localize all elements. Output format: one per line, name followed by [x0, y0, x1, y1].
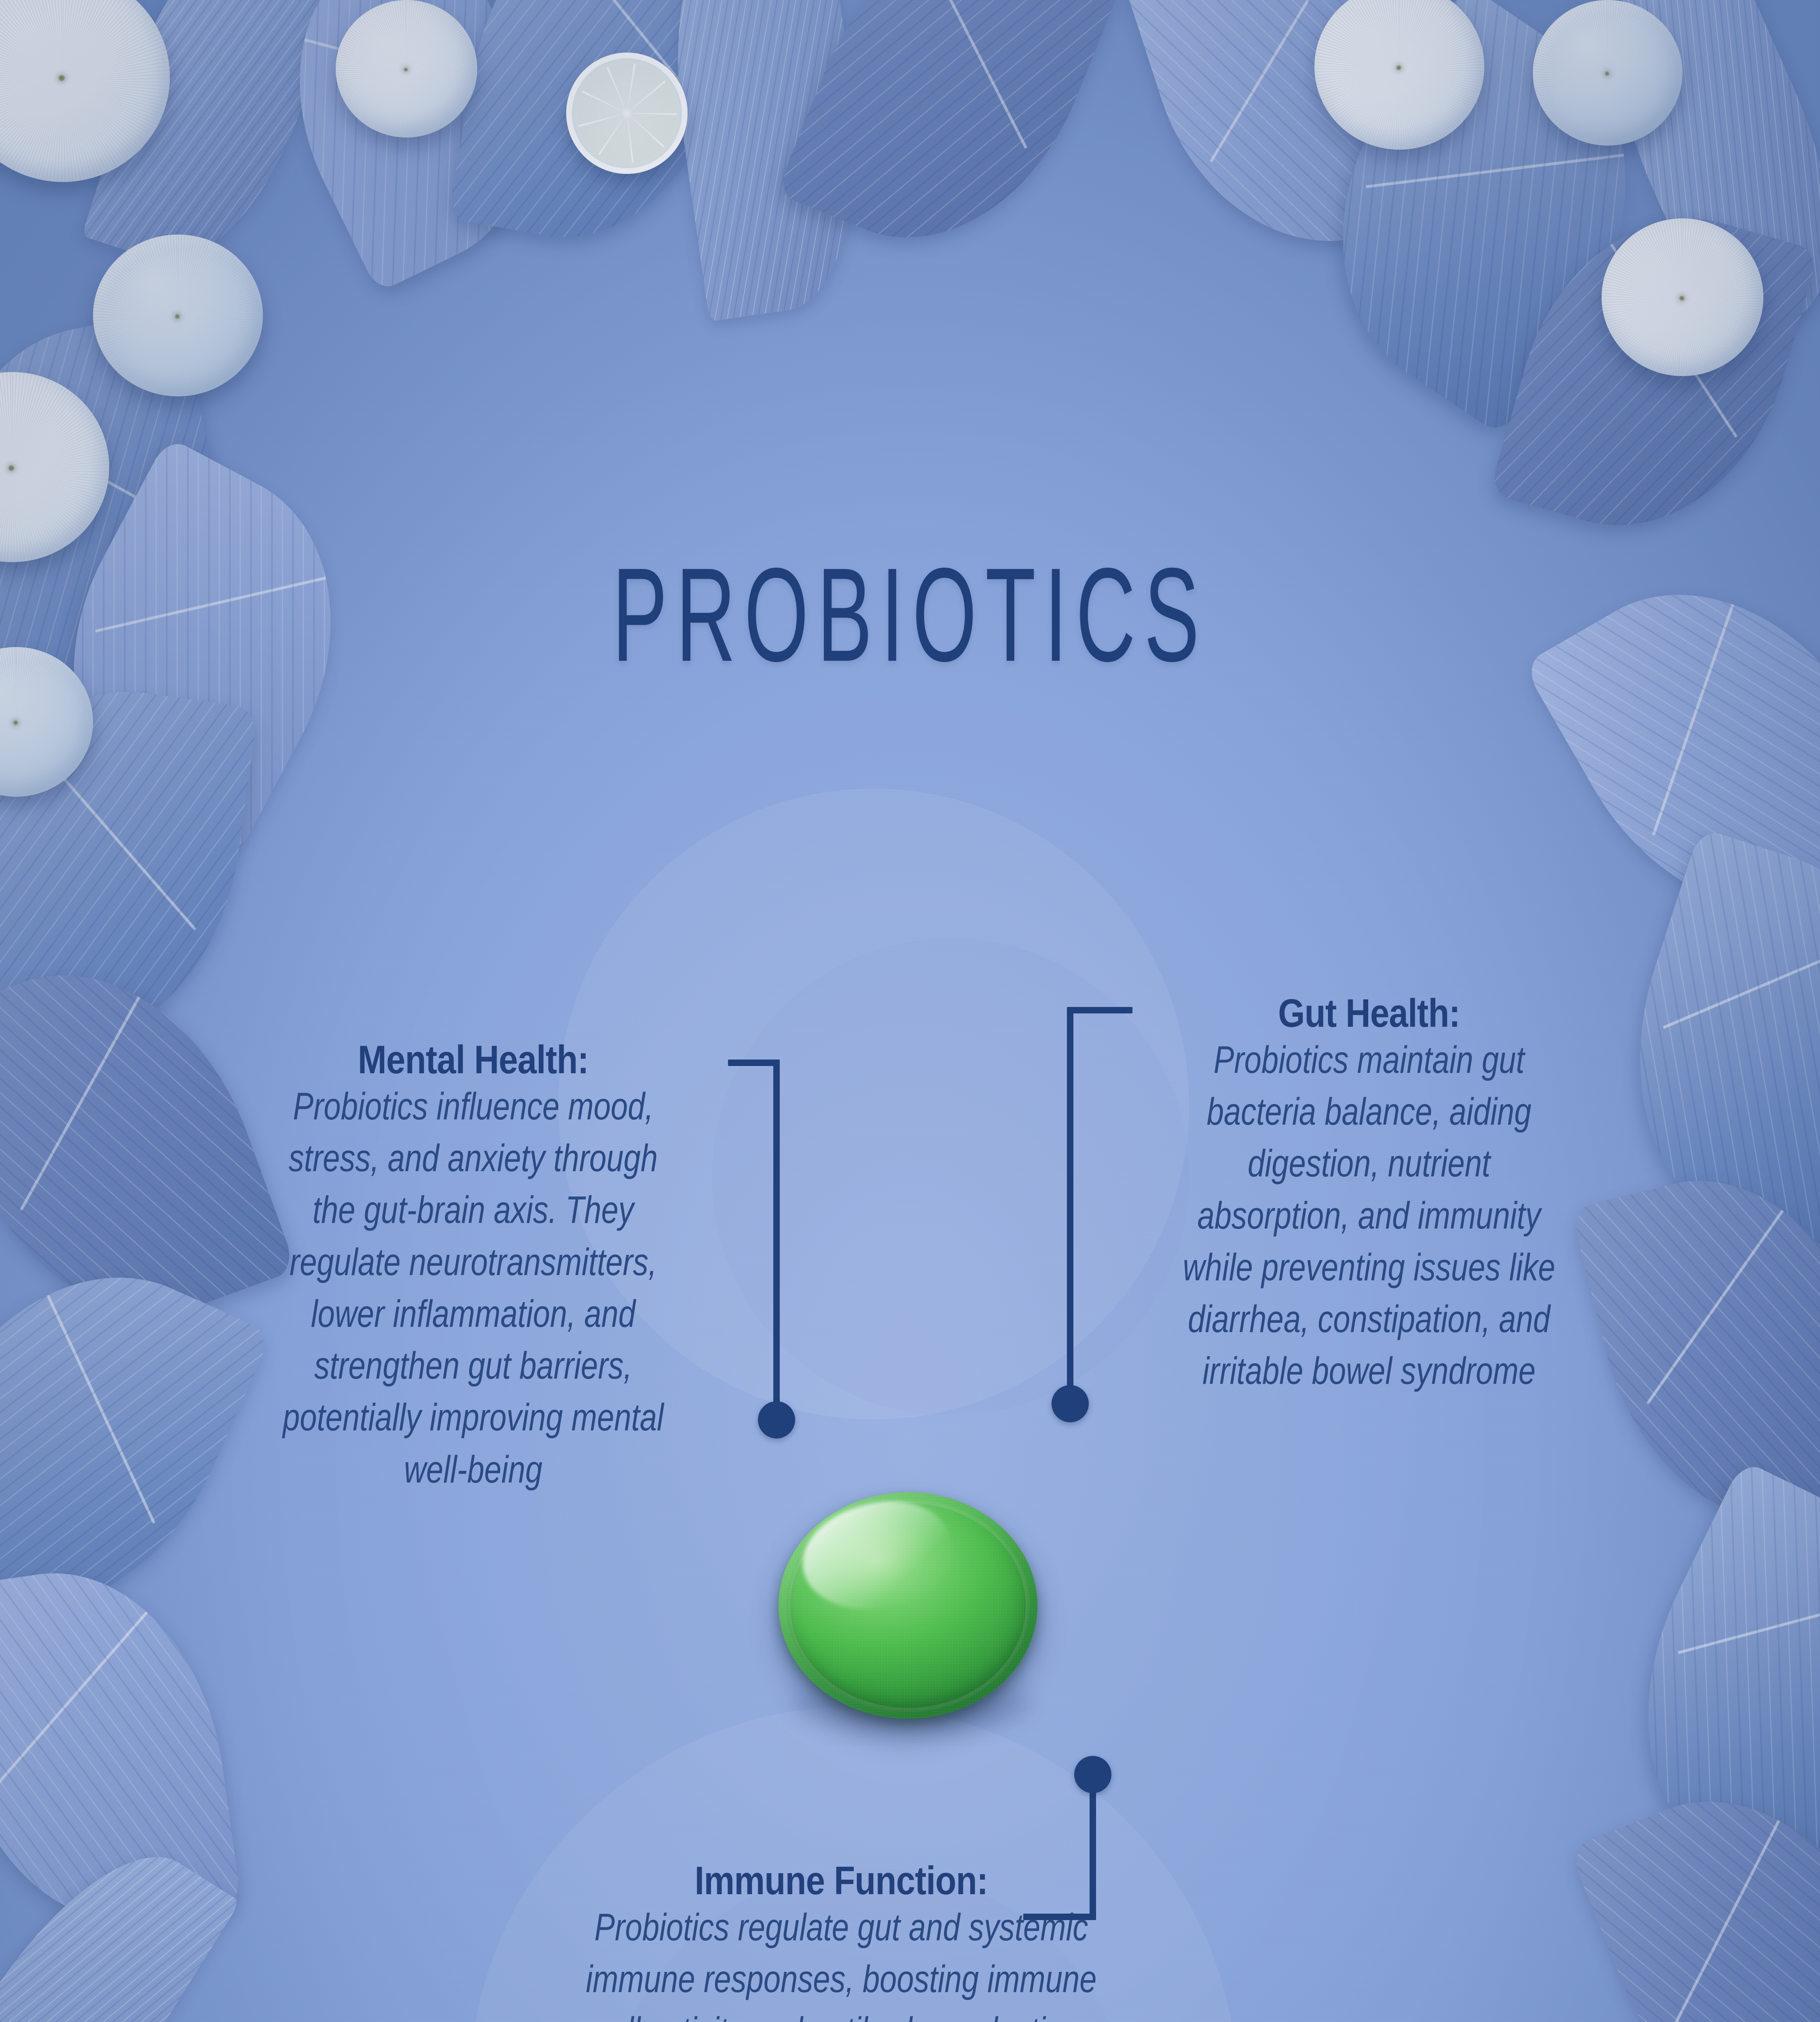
callout-title-mental-health: Mental Health:: [258, 1039, 688, 1081]
connector-mental-health: [728, 1060, 874, 1423]
connector-immune-function: [1023, 1751, 1169, 1921]
citrus-fruit: [1533, 0, 1682, 146]
callout-title-gut-health: Gut Health:: [1160, 993, 1578, 1034]
callout-body-mental-health: Probiotics influence mood, stress, and a…: [276, 1081, 671, 1495]
citrus-fruit: [93, 235, 263, 396]
citrus-fruit: [1602, 218, 1763, 376]
connector-endpoint-dot: [758, 1401, 795, 1438]
citrus-fruit: [336, 0, 477, 137]
callout-body-gut-health: Probiotics maintain gut bacteria balance…: [1177, 1034, 1562, 1397]
green-probiotic-tablet-icon: [779, 1492, 1037, 1719]
connector-vertical-segment: [1067, 1007, 1073, 1397]
connector-horizontal-segment: [1023, 1914, 1096, 1920]
connector-horizontal-segment: [728, 1060, 780, 1066]
connector-vertical-segment: [1090, 1779, 1096, 1920]
connector-endpoint-dot: [1074, 1756, 1111, 1793]
connector-endpoint-dot: [1052, 1385, 1089, 1422]
poster-canvas: PROBIOTICS Mental Health: Probiotics inf…: [0, 0, 1820, 2022]
callout-mental-health: Mental Health: Probiotics influence mood…: [226, 1039, 720, 1495]
connector-gut-health: [999, 1007, 1145, 1415]
citrus-slice: [566, 53, 688, 174]
connector-horizontal-segment: [1067, 1007, 1132, 1013]
page-title: PROBIOTICS: [346, 548, 1474, 681]
connector-vertical-segment: [773, 1060, 780, 1413]
callout-gut-health: Gut Health: Probiotics maintain gut bact…: [1128, 993, 1610, 1397]
